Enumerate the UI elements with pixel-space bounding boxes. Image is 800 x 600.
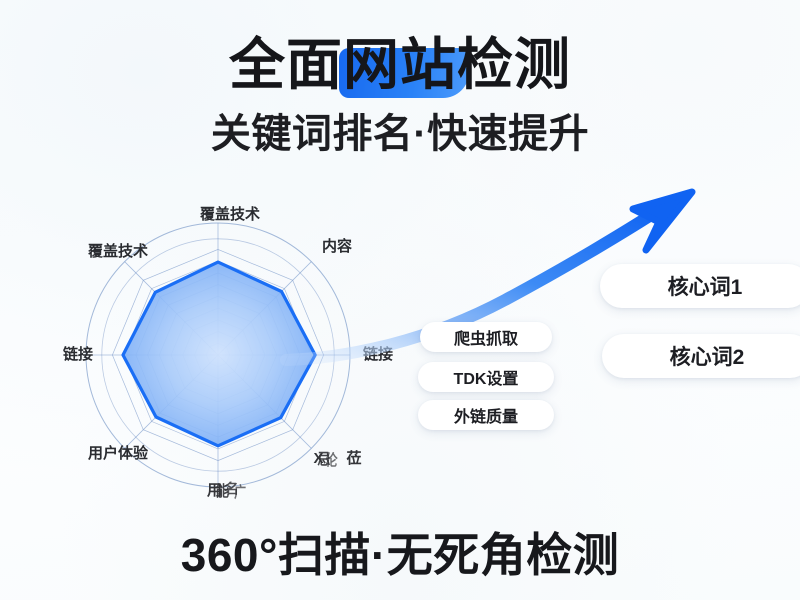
pill-keyword-2[interactable]: 核心词2 (602, 334, 800, 378)
page-footline: 360°扫描·无死角检测 (181, 524, 619, 586)
pill-keyword-1[interactable]: 核心词1 (600, 264, 800, 308)
pill-tdk[interactable]: TDK设置 (418, 362, 554, 392)
page-title: 全面网站检测 (229, 32, 571, 98)
page-subtitle: 关键词排名·快速提升 (211, 108, 589, 160)
radar-axis-label-5: 用户体验 (88, 445, 148, 463)
pill-crawl[interactable]: 爬虫抓取 (420, 322, 552, 352)
radar-axis-label-0: 覆盖技术 (200, 206, 260, 224)
radar-axis-label-6: 链接 (63, 346, 93, 364)
title-row: 全面网站检测 (0, 32, 800, 98)
radar-axis-label-4: 用能名广 (207, 482, 255, 500)
subtitle-row: 关键词排名·快速提升 (0, 108, 800, 160)
footline-row: 360°扫描·无死角检测 (0, 524, 800, 586)
pill-backlink[interactable]: 外链质量 (418, 400, 554, 430)
radar-axis-label-3: X忌:伦莅 (313, 450, 358, 468)
radar-axis-label-7: 覆盖技术 (88, 243, 148, 261)
poster-canvas: 全面网站检测 关键词排名·快速提升 覆盖技 (0, 0, 800, 600)
